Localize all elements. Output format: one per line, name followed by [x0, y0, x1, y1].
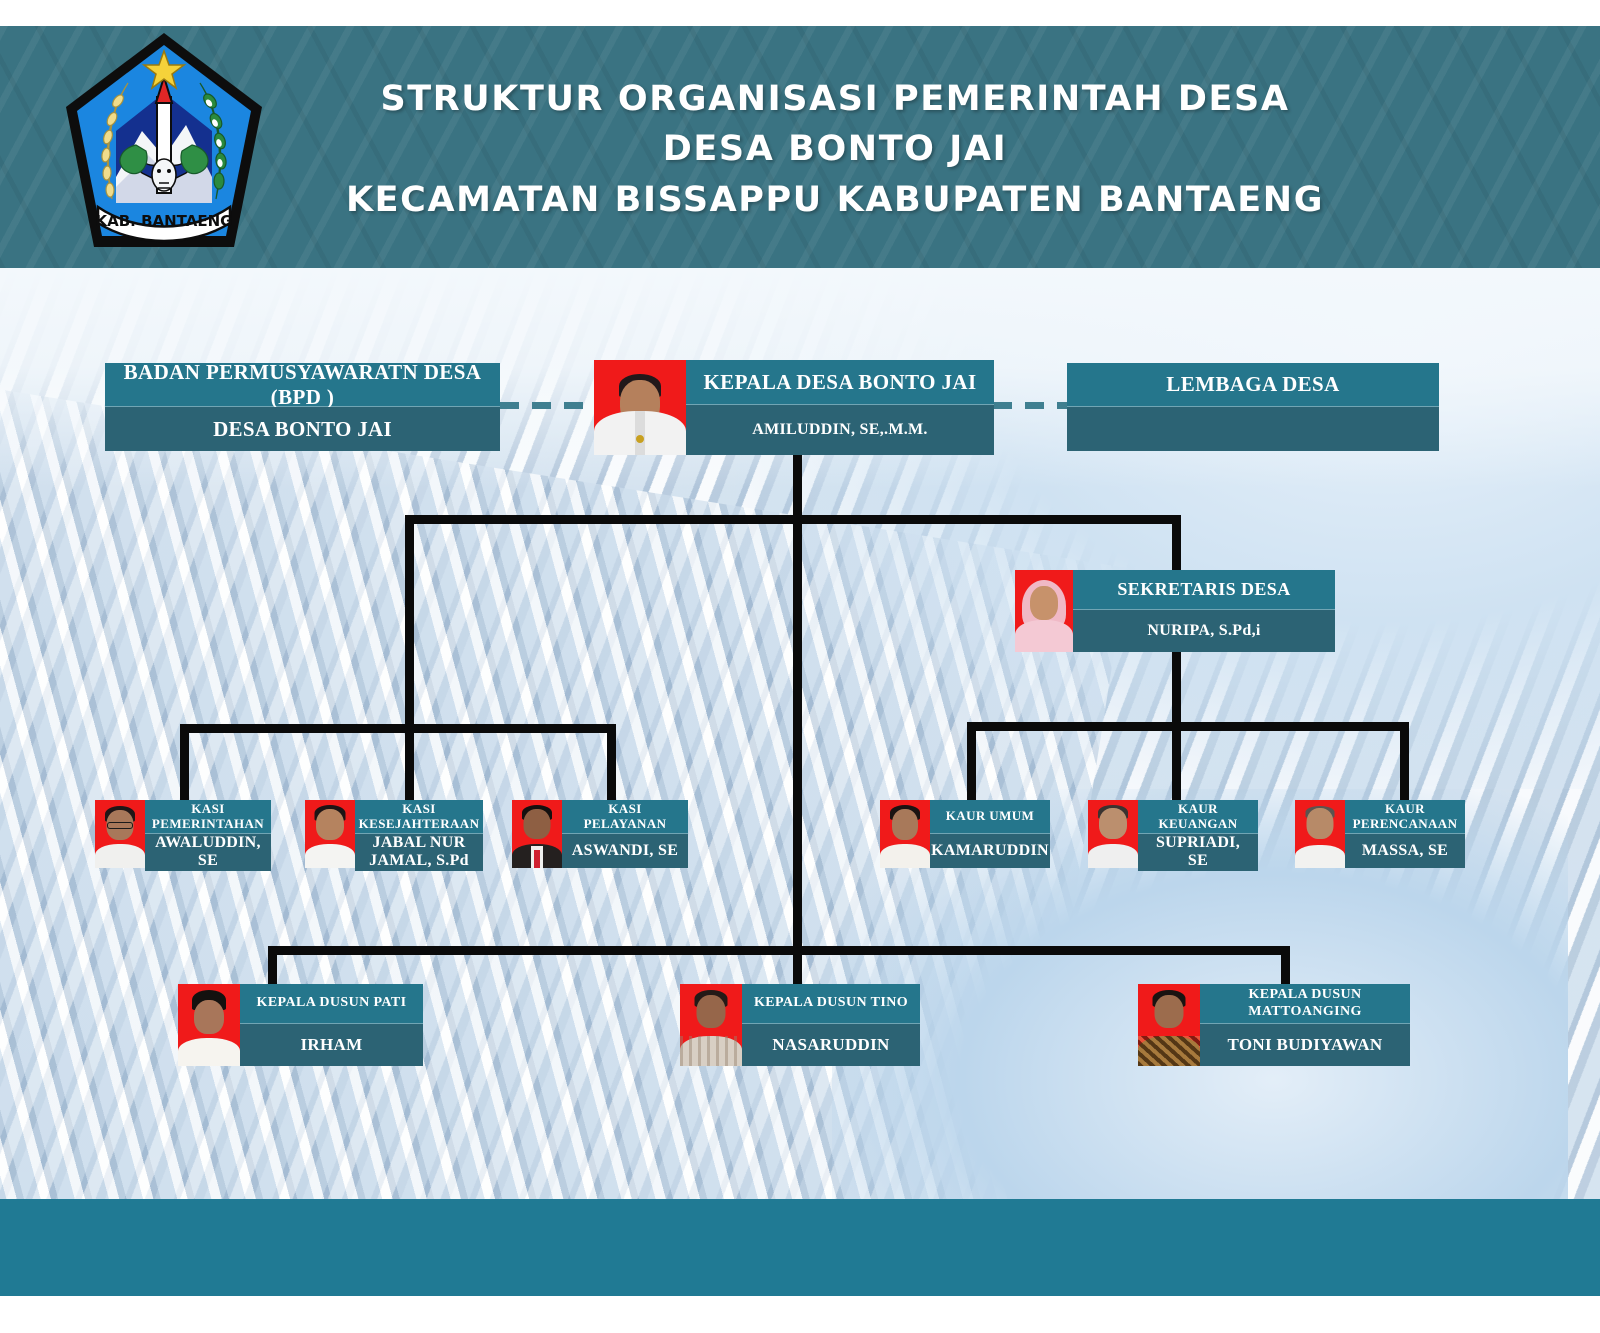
node-kasi-kesejahteraan-photo [305, 800, 355, 868]
connector-level2-right-drop-to-sekdes [1172, 515, 1181, 575]
node-kepala-dusun-mattoanging[interactable]: KEPALA DUSUN MATTOANGING TONI BUDIYAWAN [1138, 984, 1410, 1066]
node-lembaga-desa[interactable]: LEMBAGA DESA [1067, 363, 1439, 451]
node-bpd-text: BADAN PERMUSYAWARATN DESA (BPD ) DESA BO… [105, 363, 500, 451]
node-kaur-umum-title: KAUR UMUM [930, 800, 1050, 834]
node-kepala-dusun-tino-photo [680, 984, 742, 1066]
title-line-3: KECAMATAN BISSAPPU KABUPATEN BANTAENG [260, 175, 1410, 225]
node-kepala-dusun-tino-name: NASARUDDIN [742, 1024, 920, 1066]
node-kasi-pemerintahan-text: KASI PEMERINTAHAN AWALUDDIN, SE [145, 800, 271, 868]
connector-drop-kasi-pelayanan [607, 724, 616, 802]
node-kaur-umum-photo [880, 800, 930, 868]
node-kepala-dusun-tino-title: KEPALA DUSUN TINO [742, 984, 920, 1024]
node-sekretaris-desa-title: SEKRETARIS DESA [1073, 570, 1335, 610]
connector-level2-bus [405, 515, 1181, 524]
node-kepala-dusun-pati-photo [178, 984, 240, 1066]
node-sekretaris-desa[interactable]: SEKRETARIS DESA NURIPA, S.Pd,i [1015, 570, 1335, 652]
node-kaur-keuangan-title: KAUR KEUANGAN [1138, 800, 1258, 834]
node-lembaga-desa-text: LEMBAGA DESA [1067, 363, 1439, 451]
connector-kades-trunk [793, 455, 802, 715]
node-sekretaris-desa-name: NURIPA, S.Pd,i [1073, 610, 1335, 652]
connector-dashed-kades-to-lembaga [993, 402, 1069, 409]
node-kasi-pemerintahan-photo [95, 800, 145, 868]
org-chart-poster: KAB. BANTAENG STRUKTUR ORGANISASI PEMERI… [0, 0, 1600, 1333]
node-kepala-dusun-mattoanging-title: KEPALA DUSUN MATTOANGING [1200, 984, 1410, 1024]
node-kepala-dusun-pati[interactable]: KEPALA DUSUN PATI IRHAM [178, 984, 423, 1066]
connector-sekdes-trunk [1172, 652, 1181, 729]
connector-drop-kaur-keuangan [1172, 722, 1181, 802]
node-kepala-dusun-tino-text: KEPALA DUSUN TINO NASARUDDIN [742, 984, 920, 1066]
node-kasi-pelayanan[interactable]: KASI PELAYANAN ASWANDI, SE [512, 800, 688, 868]
node-kaur-perencanaan-title: KAUR PERENCANAAN [1345, 800, 1465, 834]
node-kasi-kesejahteraan-name: JABAL NUR JAMAL, S.Pd [355, 834, 483, 871]
node-sekretaris-desa-photo [1015, 570, 1073, 652]
node-kaur-keuangan[interactable]: KAUR KEUANGAN SUPRIADI, SE [1088, 800, 1258, 868]
node-sekretaris-desa-text: SEKRETARIS DESA NURIPA, S.Pd,i [1073, 570, 1335, 652]
node-kepala-dusun-mattoanging-name: TONI BUDIYAWAN [1200, 1024, 1410, 1066]
footer-banner [0, 1199, 1600, 1296]
connector-drop-kasi-pemerintahan [180, 724, 189, 802]
node-kasi-pelayanan-title: KASI PELAYANAN [562, 800, 688, 834]
connector-kasi-bus [180, 724, 616, 733]
node-kaur-perencanaan-name: MASSA, SE [1345, 834, 1465, 868]
node-kepala-dusun-pati-text: KEPALA DUSUN PATI IRHAM [240, 984, 423, 1066]
node-kasi-pemerintahan[interactable]: KASI PEMERINTAHAN AWALUDDIN, SE [95, 800, 271, 868]
node-kaur-keuangan-photo [1088, 800, 1138, 868]
kabupaten-bantaeng-crest-logo: KAB. BANTAENG [58, 27, 270, 255]
node-kaur-perencanaan[interactable]: KAUR PERENCANAAN MASSA, SE [1295, 800, 1465, 868]
node-kasi-pelayanan-photo [512, 800, 562, 868]
node-kaur-umum-text: KAUR UMUM KAMARUDDIN [930, 800, 1050, 868]
connector-drop-kasi-kesejahteraan [405, 724, 414, 802]
connector-level2-left-drop [405, 515, 414, 733]
node-lembaga-desa-title: LEMBAGA DESA [1067, 363, 1439, 407]
node-kepala-desa-name: AMILUDDIN, SE,.M.M. [686, 405, 994, 455]
node-kepala-desa[interactable]: KEPALA DESA BONTO JAI AMILUDDIN, SE,.M.M… [594, 360, 994, 455]
node-kepala-dusun-tino[interactable]: KEPALA DUSUN TINO NASARUDDIN [680, 984, 920, 1066]
node-bpd[interactable]: BADAN PERMUSYAWARATN DESA (BPD ) DESA BO… [105, 363, 500, 451]
title-line-1: STRUKTUR ORGANISASI PEMERINTAH DESA [260, 74, 1410, 124]
node-kasi-pemerintahan-name: AWALUDDIN, SE [145, 834, 271, 871]
connector-dusun-bus [268, 946, 1290, 955]
node-kepala-dusun-pati-title: KEPALA DUSUN PATI [240, 984, 423, 1024]
node-kepala-desa-photo [594, 360, 686, 455]
node-kepala-dusun-pati-name: IRHAM [240, 1024, 423, 1066]
node-kasi-pemerintahan-title: KASI PEMERINTAHAN [145, 800, 271, 834]
node-kaur-perencanaan-text: KAUR PERENCANAAN MASSA, SE [1345, 800, 1465, 868]
node-kepala-desa-text: KEPALA DESA BONTO JAI AMILUDDIN, SE,.M.M… [686, 360, 994, 455]
connector-drop-kaur-perencanaan [1400, 722, 1409, 802]
node-bpd-title: BADAN PERMUSYAWARATN DESA (BPD ) [105, 363, 500, 407]
node-kepala-desa-title: KEPALA DESA BONTO JAI [686, 360, 994, 405]
node-kaur-umum[interactable]: KAUR UMUM KAMARUDDIN [880, 800, 1050, 868]
node-kaur-keuangan-text: KAUR KEUANGAN SUPRIADI, SE [1138, 800, 1258, 868]
node-kepala-dusun-mattoanging-text: KEPALA DUSUN MATTOANGING TONI BUDIYAWAN [1200, 984, 1410, 1066]
title-line-2: DESA BONTO JAI [260, 124, 1410, 174]
node-kasi-pelayanan-text: KASI PELAYANAN ASWANDI, SE [562, 800, 688, 868]
node-kasi-kesejahteraan-title: KASI KESEJAHTERAAN [355, 800, 483, 834]
node-kepala-dusun-mattoanging-photo [1138, 984, 1200, 1066]
connector-kades-trunk-lower [793, 715, 802, 950]
connector-kaur-bus [967, 722, 1409, 731]
crest-caption: KAB. BANTAENG [96, 212, 233, 230]
node-kaur-perencanaan-photo [1295, 800, 1345, 868]
node-bpd-name: DESA BONTO JAI [105, 407, 500, 451]
node-kaur-keuangan-name: SUPRIADI, SE [1138, 834, 1258, 871]
node-kasi-kesejahteraan-text: KASI KESEJAHTERAAN JABAL NUR JAMAL, S.Pd [355, 800, 483, 868]
node-kasi-pelayanan-name: ASWANDI, SE [562, 834, 688, 868]
node-kaur-umum-name: KAMARUDDIN [930, 834, 1050, 868]
connector-dashed-bpd-to-kades [500, 402, 596, 409]
node-kasi-kesejahteraan[interactable]: KASI KESEJAHTERAAN JABAL NUR JAMAL, S.Pd [305, 800, 483, 868]
node-lembaga-desa-name [1067, 407, 1439, 451]
connector-drop-kaur-umum [967, 722, 976, 802]
page-title: STRUKTUR ORGANISASI PEMERINTAH DESA DESA… [260, 74, 1410, 225]
